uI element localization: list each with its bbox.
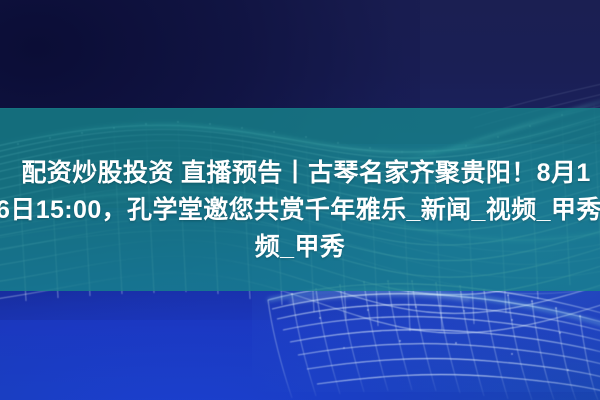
headline-block: 配资炒股投资 直播预告丨古琴名家齐聚贵阳！8月1 6日15:00，孔学堂邀您共赏… (0, 108, 600, 291)
banner-image: 配资炒股投资 直播预告丨古琴名家齐聚贵阳！8月1 6日15:00，孔学堂邀您共赏… (0, 0, 600, 400)
headline-line-3: 频_甲秀 (255, 229, 346, 266)
headline-line-2: 6日15:00，孔学堂邀您共赏千年雅乐_新闻_视频_甲秀 (0, 192, 596, 229)
headline-clip-area: 配资炒股投资 直播预告丨古琴名家齐聚贵阳！8月1 6日15:00，孔学堂邀您共赏… (0, 0, 600, 400)
headline-line-1: 配资炒股投资 直播预告丨古琴名家齐聚贵阳！8月1 (6, 155, 600, 192)
